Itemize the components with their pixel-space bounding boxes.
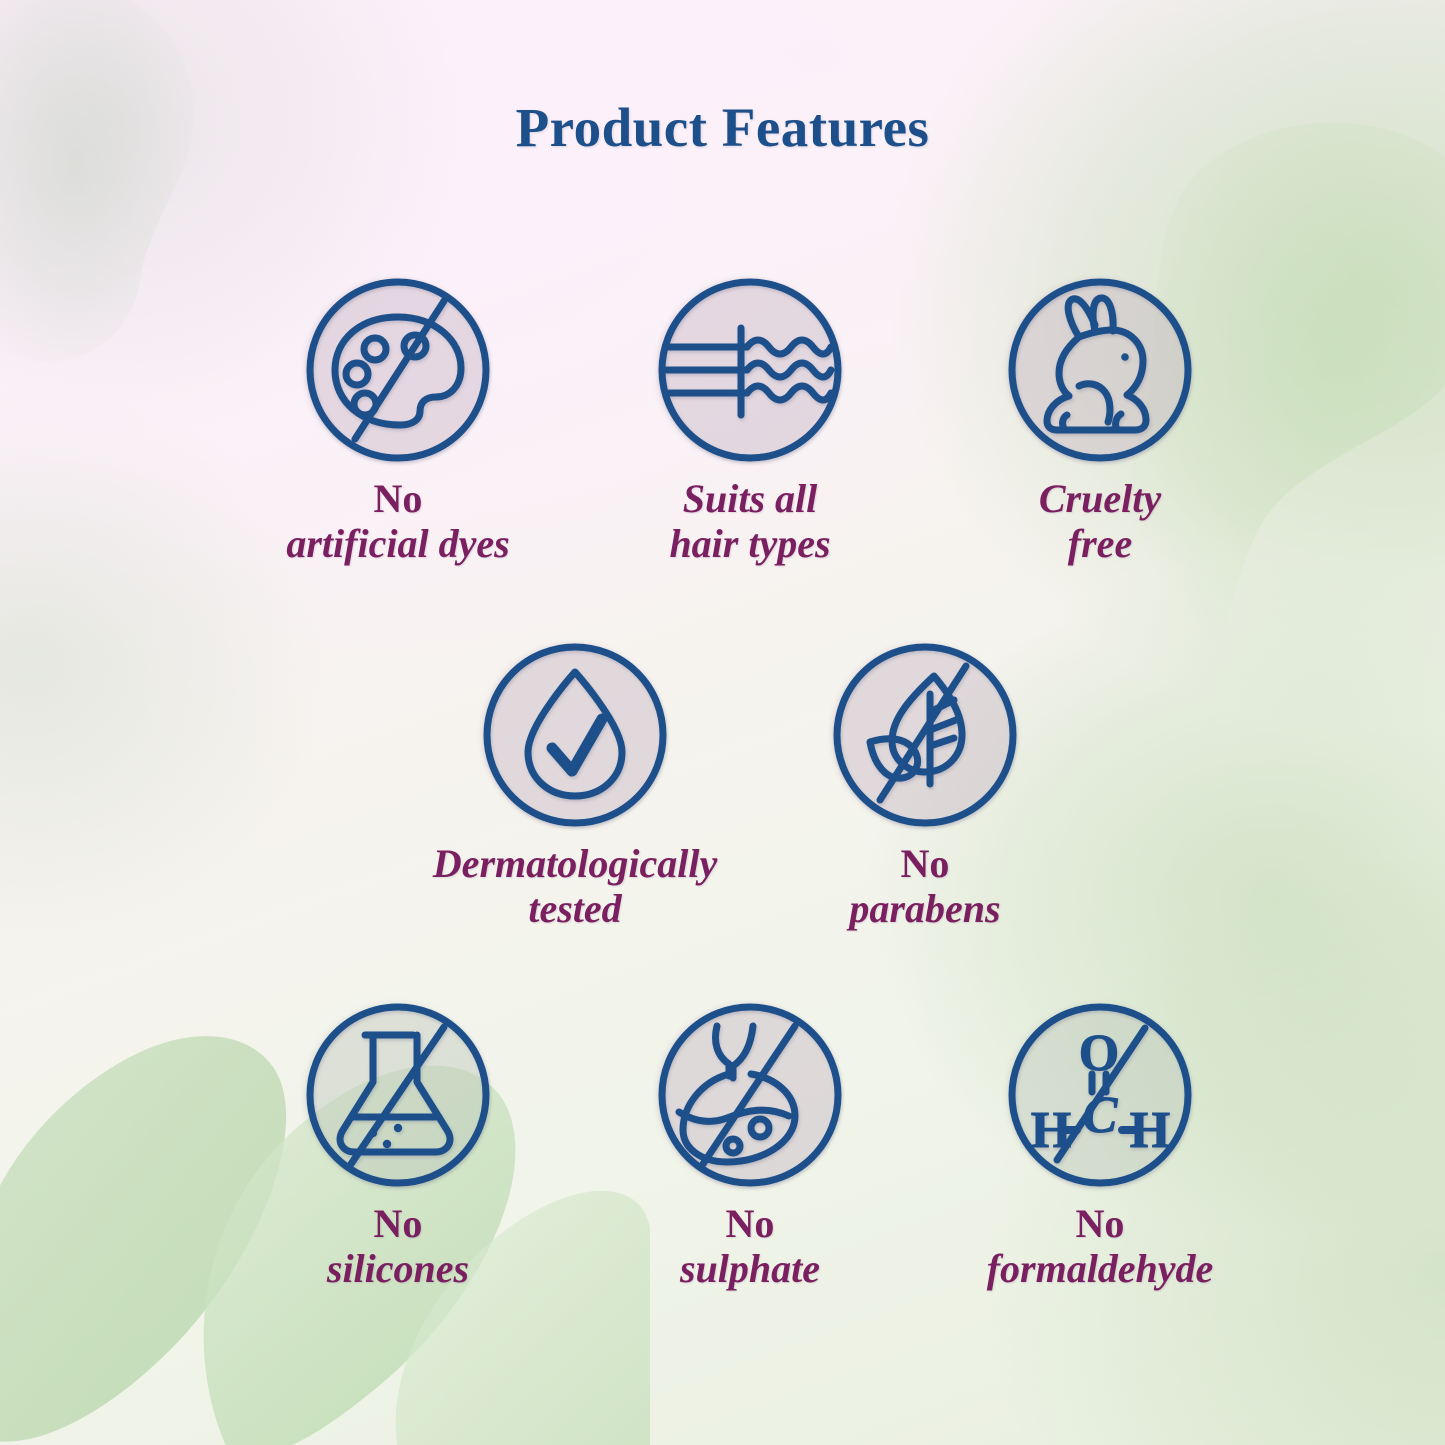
caption-line-1: Suits all xyxy=(600,477,900,522)
feature-no-artificial-dyes: No artificial dyes xyxy=(248,275,548,567)
caption-line-2: artificial dyes xyxy=(248,522,548,567)
feature-caption: No artificial dyes xyxy=(248,477,548,567)
rabbit-icon xyxy=(1005,275,1195,465)
page-title: Product Features xyxy=(0,96,1445,159)
caption-line-2: parabens xyxy=(775,887,1075,932)
icon-wrap xyxy=(303,1000,493,1190)
feature-caption: Suits all hair types xyxy=(600,477,900,567)
icon-wrap xyxy=(830,640,1020,830)
molecule-hydrogen-left-label: H xyxy=(1031,1102,1071,1159)
water-drop-check-icon xyxy=(480,640,670,830)
caption-line-1: No xyxy=(248,1202,548,1247)
feature-caption: No parabens xyxy=(775,842,1075,932)
caption-line-2: silicones xyxy=(248,1247,548,1292)
erlenmeyer-flask-prohibited-icon xyxy=(303,1000,493,1190)
feature-no-silicones: No silicones xyxy=(248,1000,548,1292)
molecule-carbon-label: C xyxy=(1083,1087,1119,1144)
feature-dermatologically-tested: Dermatologically tested xyxy=(425,640,725,932)
caption-line-2: sulphate xyxy=(600,1247,900,1292)
feature-caption: Dermatologically tested xyxy=(425,842,725,932)
caption-line-1: Dermatologically xyxy=(425,842,725,887)
icon-wrap xyxy=(303,275,493,465)
feature-no-formaldehyde: O C H H No formaldehyde xyxy=(950,1000,1250,1292)
formaldehyde-molecule-prohibited-icon: O C H H xyxy=(1005,1000,1195,1190)
feature-caption: Cruelty free xyxy=(950,477,1250,567)
feature-cruelty-free: Cruelty free xyxy=(950,275,1250,567)
leaf-prohibited-icon xyxy=(830,640,1020,830)
caption-line-1: Cruelty xyxy=(950,477,1250,522)
caption-line-1: No xyxy=(600,1202,900,1247)
feature-suits-all-hair-types: Suits all hair types xyxy=(600,275,900,567)
icon-wrap: O C H H xyxy=(1005,1000,1195,1190)
round-flask-prohibited-icon xyxy=(655,1000,845,1190)
icon-wrap xyxy=(1005,275,1195,465)
caption-line-2: formaldehyde xyxy=(950,1247,1250,1292)
caption-line-1: No xyxy=(248,477,548,522)
feature-caption: No sulphate xyxy=(600,1202,900,1292)
caption-line-2: tested xyxy=(425,887,725,932)
caption-line-1: No xyxy=(775,842,1075,887)
straight-and-wavy-hair-icon xyxy=(655,275,845,465)
icon-wrap xyxy=(480,640,670,830)
feature-caption: No silicones xyxy=(248,1202,548,1292)
feature-no-parabens: No parabens xyxy=(775,640,1075,932)
feature-no-sulphate: No sulphate xyxy=(600,1000,900,1292)
caption-line-2: hair types xyxy=(600,522,900,567)
paint-palette-prohibited-icon xyxy=(303,275,493,465)
feature-caption: No formaldehyde xyxy=(950,1202,1250,1292)
caption-line-1: No xyxy=(950,1202,1250,1247)
caption-line-2: free xyxy=(950,522,1250,567)
molecule-hydrogen-right-label: H xyxy=(1130,1102,1170,1159)
product-features-poster: Product Features No artificial dyes xyxy=(0,0,1445,1445)
icon-wrap xyxy=(655,275,845,465)
molecule-oxygen-label: O xyxy=(1079,1025,1119,1082)
icon-wrap xyxy=(655,1000,845,1190)
